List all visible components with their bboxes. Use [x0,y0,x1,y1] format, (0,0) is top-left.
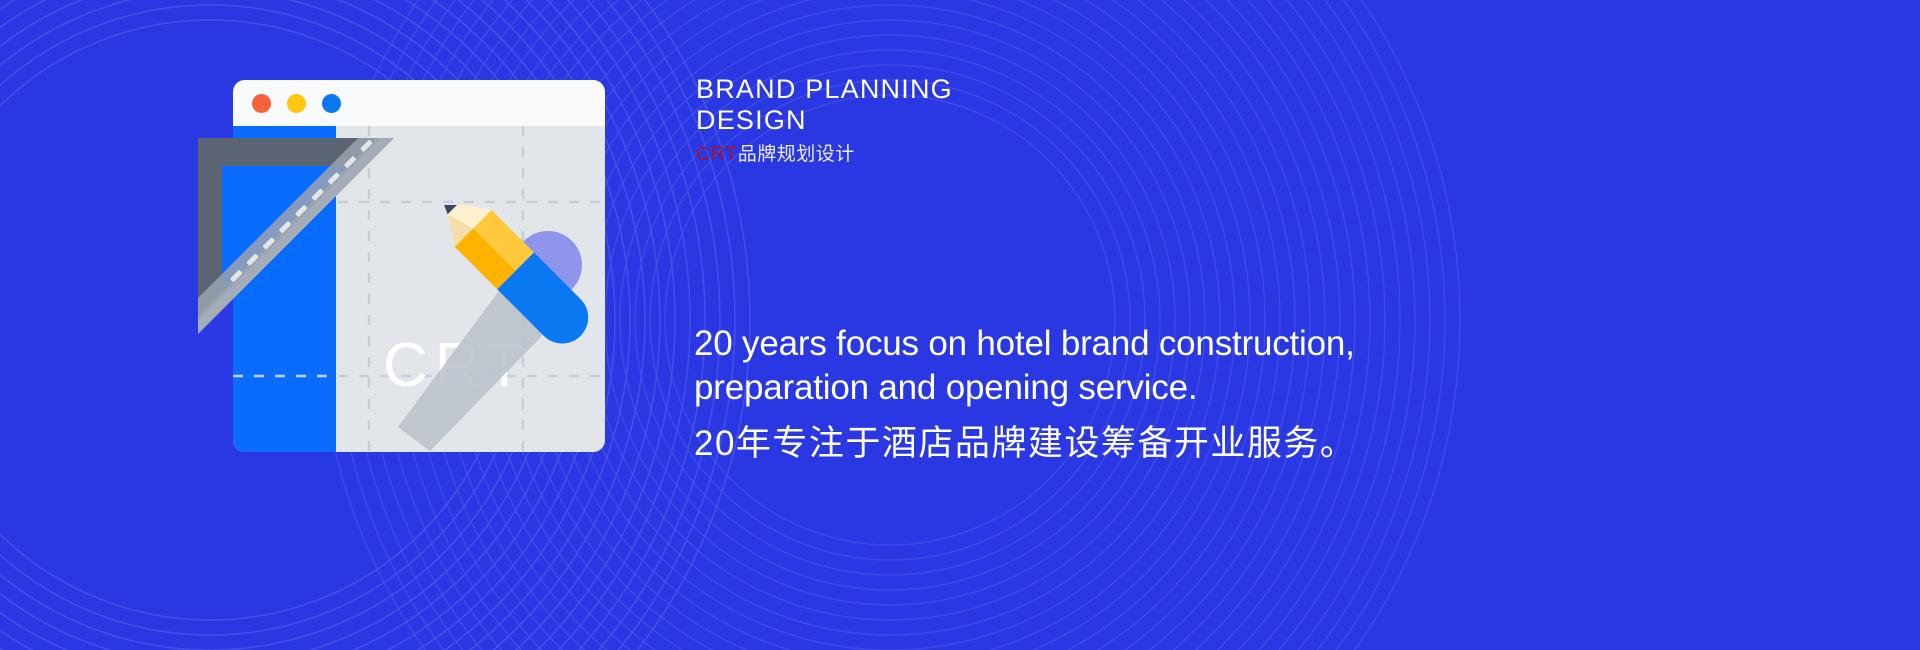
tagline-block: 20 years focus on hotel brand constructi… [694,322,1694,466]
illustration: CRT´ [233,80,605,452]
headline-chinese: CRT品牌规划设计 [696,143,1336,167]
pencil-icon [338,205,628,495]
maximize-dot [322,94,341,113]
brand-banner: CRT´ [0,0,1920,650]
headline-english: BRAND PLANNING DESIGN [696,74,1336,137]
tagline-english: 20 years focus on hotel brand constructi… [694,322,1694,410]
window-titlebar [233,80,605,126]
headline-chinese-text: 品牌规划设计 [738,144,855,165]
header-text-block: BRAND PLANNING DESIGN CRT品牌规划设计 [696,74,1336,166]
close-dot [252,94,271,113]
minimize-dot [287,94,306,113]
tagline-chinese: 20年专注于酒店品牌建设筹备开业服务。 [694,422,1694,466]
brand-name: CRT [696,144,738,165]
